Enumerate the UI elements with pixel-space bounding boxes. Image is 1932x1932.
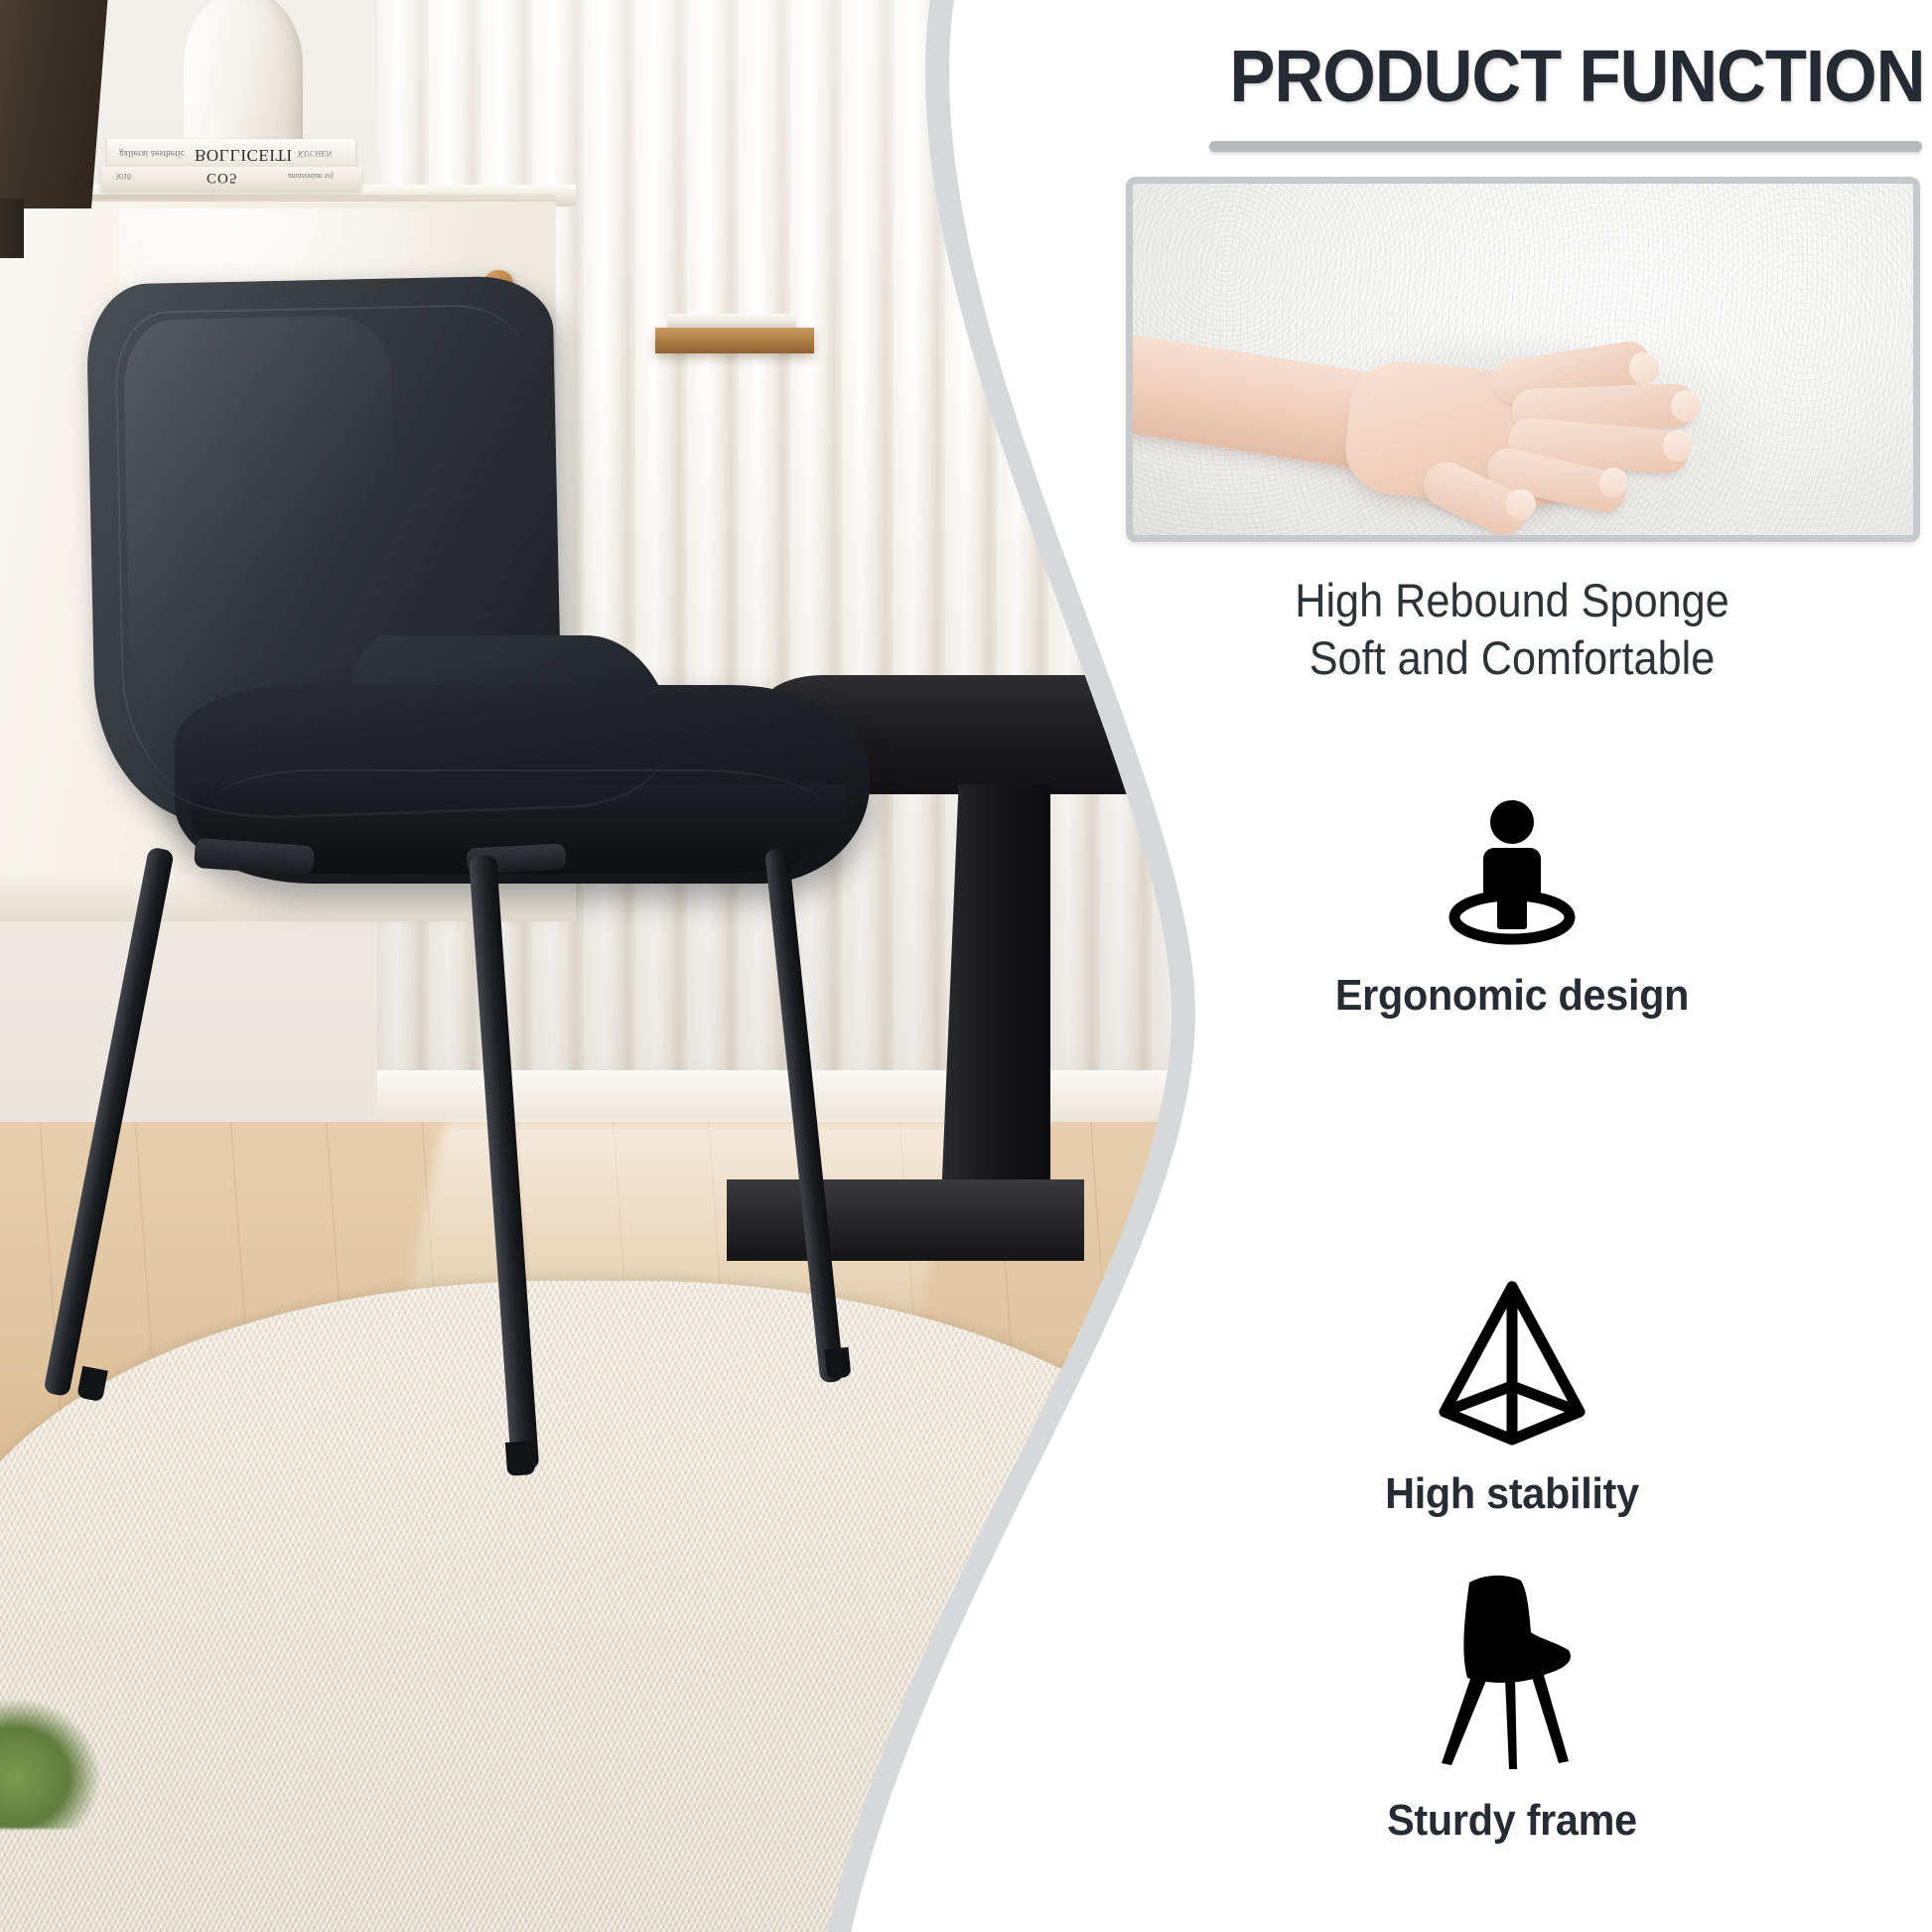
chair-welt-stitch (147, 686, 667, 823)
book-spine-text-mid: CO5 (207, 169, 237, 186)
lamp-base (0, 199, 24, 258)
book-spine-text-right-2: amazonian soj (288, 172, 334, 181)
feature-sturdy-frame: Sturdy frame (1092, 1565, 1932, 1846)
feature-column: PRODUCT FUNCTION High Re (1092, 0, 1932, 1932)
lamp-shade (0, 0, 109, 208)
book-spine-text-right: KUCHEN (298, 149, 333, 158)
book-spine-text-left-2: 3018 (115, 172, 131, 181)
foam-photo-card (1126, 177, 1920, 542)
side-table-base-plate (727, 1179, 1084, 1261)
wireframe-pyramid-icon (1092, 1275, 1932, 1451)
floating-wall-shelf (655, 328, 814, 353)
feature-ergonomic-design: Ergonomic design (1092, 794, 1932, 1021)
foam-caption: High Rebound Sponge Soft and Comfortable (1126, 572, 1898, 688)
feature-high-stability: High stability (1092, 1275, 1932, 1519)
fingernail-middle (1671, 390, 1701, 422)
foam-caption-line-2: Soft and Comfortable (1126, 629, 1898, 687)
chair-leg-tip-back-left (505, 1441, 535, 1476)
feature-label: Sturdy frame (1117, 1796, 1906, 1846)
feature-label: High stability (1117, 1469, 1906, 1519)
hand-pressing-foam-icon (1126, 295, 1758, 523)
product-infographic: gallerai aesthetic BOLLICEITI KUCHEN 301… (0, 0, 1932, 1932)
title-divider (1209, 141, 1922, 152)
feature-label: Ergonomic design (1117, 971, 1906, 1021)
chair-leg-tip-front-right (824, 1347, 851, 1379)
chair-silhouette-icon (1092, 1565, 1932, 1778)
person-in-circle-icon (1092, 794, 1932, 953)
book-spine-text-left: gallerai aesthetic (119, 149, 185, 159)
foam-caption-line-1: High Rebound Sponge (1126, 572, 1898, 629)
page-title: PRODUCT FUNCTION (1151, 40, 1932, 113)
side-table-pillar (941, 784, 1050, 1201)
plant-leaf (0, 1700, 99, 1829)
book-spine-title: BOLLICEITI (195, 145, 292, 165)
